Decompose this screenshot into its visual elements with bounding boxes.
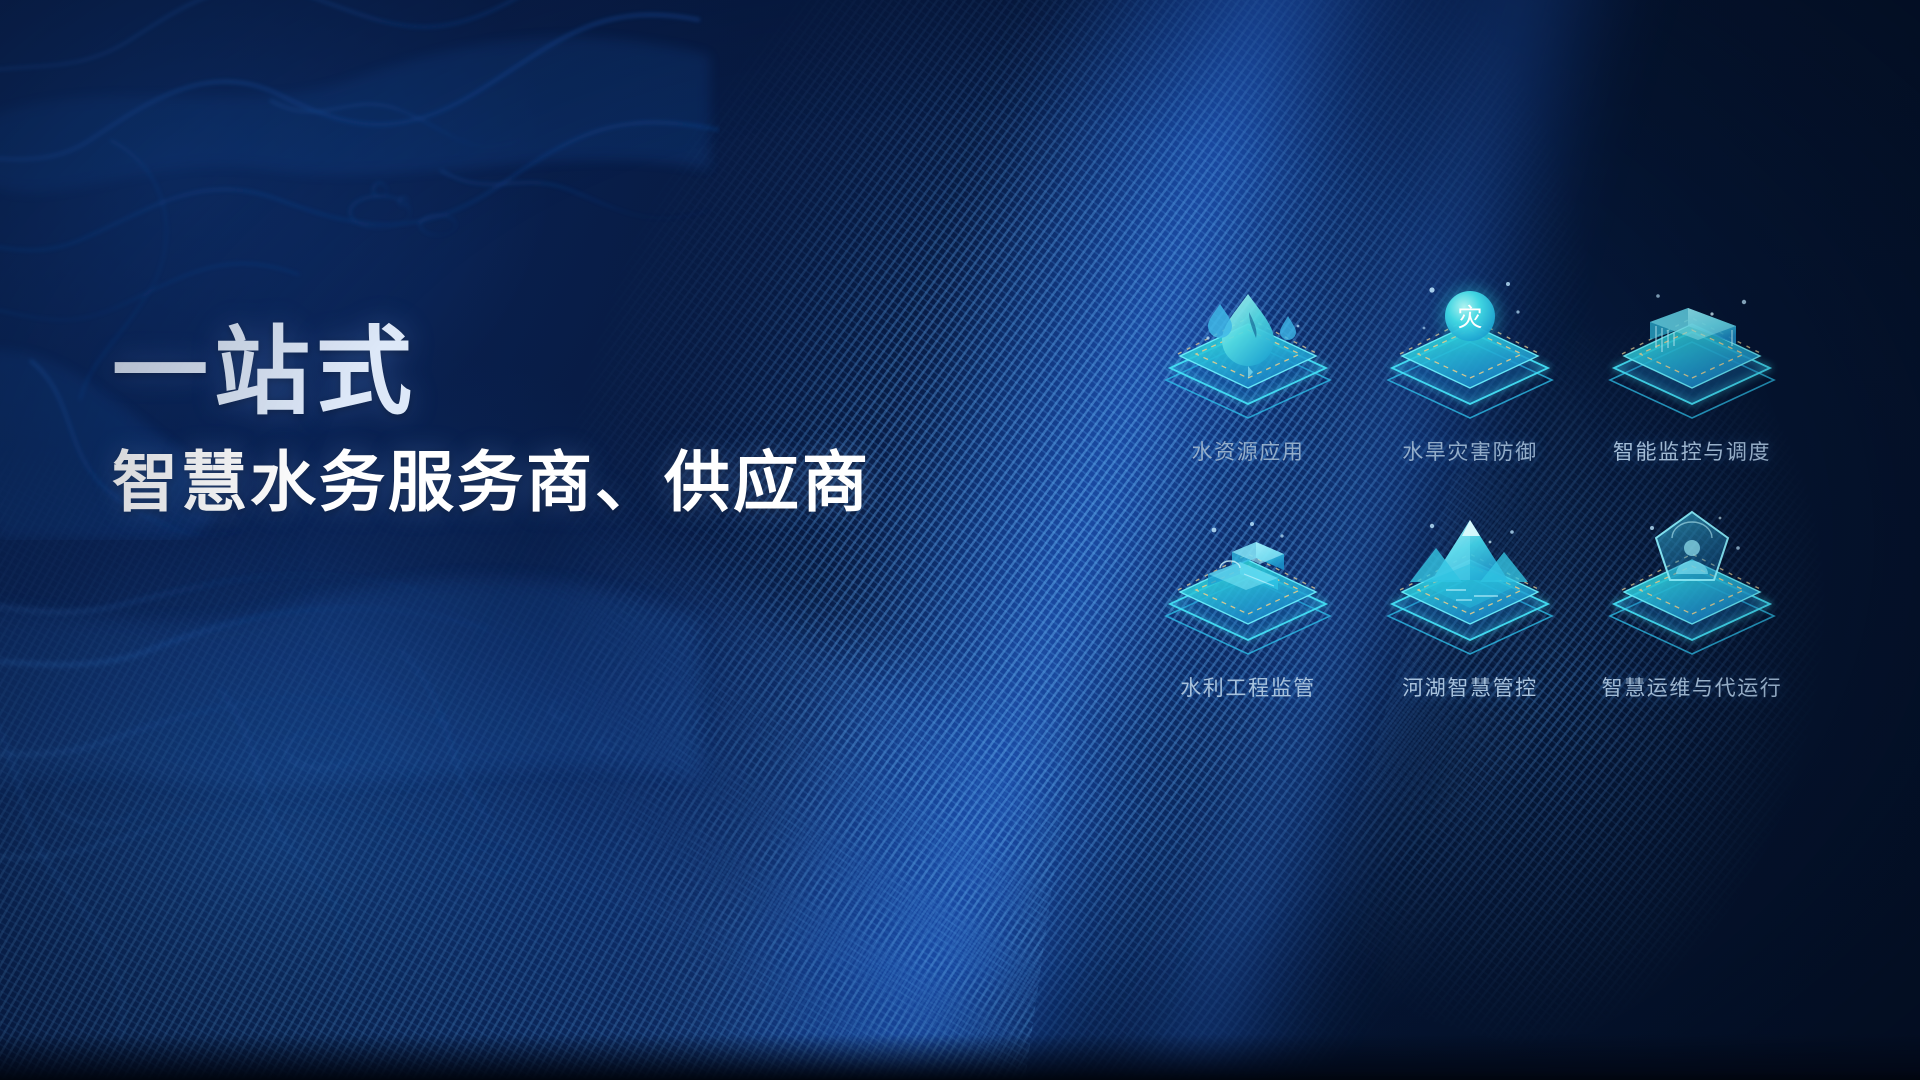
capability-label: 智慧运维与代运行 (1602, 672, 1783, 702)
water-texture-bottom-left (0, 560, 800, 1080)
page-title-sub: 智慧水务服务商、供应商 (112, 446, 1052, 520)
dam-control-icon (1592, 268, 1792, 434)
capability-card-flood-drought-defense[interactable]: 灾 水旱灾害防御 (1362, 268, 1578, 492)
water-drop-icon (1148, 268, 1348, 434)
river-lake-icon (1370, 504, 1570, 670)
capability-label: 河湖智慧管控 (1402, 672, 1538, 702)
bottom-fade-overlay (0, 1034, 1920, 1080)
hydro-engineering-icon (1148, 504, 1348, 670)
capability-card-smart-monitoring[interactable]: 智能监控与调度 (1584, 268, 1800, 492)
page-title-main: 一站式 (112, 322, 1052, 424)
capability-card-smart-ops[interactable]: 智慧运维与代运行 (1584, 504, 1800, 728)
capability-label: 水资源应用 (1192, 436, 1305, 466)
slide-canvas: 一站式 智慧水务服务商、供应商 (0, 0, 1920, 1080)
disaster-sphere-icon: 灾 (1370, 268, 1570, 434)
capability-icon-grid: 水资源应用 (1140, 268, 1800, 728)
capability-label: 水旱灾害防御 (1402, 436, 1538, 466)
light-sweep-band-lower (124, 503, 1237, 1080)
headline-block: 一站式 智慧水务服务商、供应商 (112, 322, 1052, 520)
capability-card-water-resource[interactable]: 水资源应用 (1140, 268, 1356, 492)
capability-label: 水利工程监管 (1180, 672, 1316, 702)
capability-card-hydro-engineering[interactable]: 水利工程监管 (1140, 504, 1356, 728)
capability-label: 智能监控与调度 (1613, 436, 1771, 466)
disaster-badge-text: 灾 (1457, 304, 1482, 332)
capability-card-river-lake-control[interactable]: 河湖智慧管控 (1362, 504, 1578, 728)
shield-ops-icon (1592, 504, 1792, 670)
